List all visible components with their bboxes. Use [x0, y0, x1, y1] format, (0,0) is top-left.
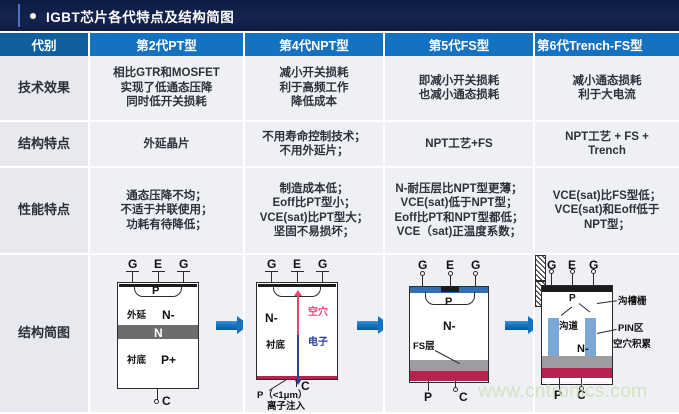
- trench-gate-left: [535, 255, 546, 281]
- cell-line: 相比GTR和MOSFET: [113, 66, 220, 80]
- comparison-table: 代别 第2代PT型 第4代NPT型 第5代FS型 第6代Trench-FS型 技…: [0, 33, 679, 414]
- pin-region-left: [548, 318, 559, 356]
- cell-structure-gen2: 外延晶片: [90, 122, 245, 168]
- row-label-structure-feature: 结构特点: [0, 122, 90, 168]
- cell-line: 即减小开关损耗: [419, 74, 500, 88]
- flow-arrow: [216, 321, 238, 330]
- region-label-n-minus: N-: [577, 343, 589, 357]
- cell-line: 不用外延片；: [262, 144, 366, 158]
- fs-layer: [542, 356, 612, 368]
- cell-line: 通态压降不均；: [121, 189, 213, 203]
- cell-line: NPT工艺 + FS +: [565, 130, 649, 144]
- carrier-label-hole: 空穴: [308, 307, 328, 320]
- cell-line: 降低成本: [280, 95, 349, 109]
- hole-current-arrow: [297, 295, 299, 335]
- annotation-channel-line1: 沟道: [559, 321, 578, 333]
- lead-line: [265, 271, 278, 272]
- terminal-gate-right: G: [318, 257, 327, 272]
- column-header-gen6-trench-fs: 第6代Trench-FS型: [535, 33, 679, 56]
- collector-node: [453, 387, 458, 392]
- region-label-p-plus: P+: [161, 353, 176, 368]
- gate-node-right: [473, 271, 478, 276]
- lead-line: [132, 271, 133, 282]
- row-label-structure-diagram: 结构简图: [0, 255, 90, 414]
- terminal-collector: C: [459, 390, 468, 405]
- column-header-gen2-pt: 第2代PT型: [90, 33, 245, 56]
- electron-current-arrow: [297, 335, 299, 380]
- annotation-pin-region: PIN区: [618, 323, 643, 335]
- cell-performance-gen6: VCE(sat)比FS型低； VCE(sat)和Eoff低于 NPT型；: [535, 168, 679, 255]
- gate-node-right: [591, 269, 596, 274]
- cell-line: VCE(sat)比FS型低；: [553, 189, 662, 203]
- cell-line: 利于高频工作: [280, 81, 349, 95]
- region-label-n-minus: N-: [265, 311, 278, 326]
- region-label-n-minus: N-: [443, 319, 456, 334]
- cell-line: 利于大电流: [573, 88, 642, 102]
- row-label-performance-feature: 性能特点: [0, 168, 90, 255]
- terminal-emitter: E: [293, 257, 301, 272]
- table-header-row: 代别 第2代PT型 第4代NPT型 第5代FS型 第6代Trench-FS型: [0, 33, 679, 56]
- cell-line: NPT工艺+FS: [425, 137, 492, 151]
- cell-line: N-耐压层比NPT型更薄；: [394, 182, 523, 196]
- lead-line: [322, 271, 323, 282]
- annotation-hole-accumulation: 空穴积累: [613, 339, 651, 351]
- diagram-fs-structure: G E G P N- FS层: [385, 255, 535, 414]
- lead-line: [316, 271, 329, 272]
- region-label-p: P: [445, 296, 452, 310]
- annotation-fs-layer: FS层: [413, 341, 435, 353]
- terminal-gate-right: G: [179, 257, 188, 272]
- lead-line: [291, 271, 304, 272]
- slide-title-bar: IGBT芯片各代特点及结构简图: [0, 0, 679, 31]
- region-label-n-minus: N-: [162, 308, 175, 323]
- lead-line: [152, 271, 165, 272]
- gate-node-left: [420, 271, 425, 276]
- lead-line: [158, 271, 159, 282]
- cell-line: 制造成本低；: [260, 182, 369, 196]
- lead-line: [183, 271, 184, 282]
- cell-tech-effect-gen4: 减小开关损耗 利于高频工作 降低成本: [245, 56, 385, 122]
- diagram-trench-fs-structure: G E G P: [535, 255, 679, 414]
- region-label-substrate: 衬底: [127, 355, 146, 367]
- collector-node: [154, 399, 159, 404]
- terminal-gate-left: G: [267, 257, 276, 272]
- column-header-generation: 代别: [0, 33, 90, 56]
- cell-line: 外延晶片: [144, 137, 190, 151]
- table-row-structure-diagram: 结构简图 G E G: [0, 255, 679, 414]
- terminal-gate-left: G: [128, 257, 137, 272]
- cell-structure-gen4: 不用寿命控制技术； 不用外延片；: [245, 122, 385, 168]
- lead-line: [126, 271, 139, 272]
- cell-tech-effect-gen6: 减小通态损耗 利于大电流: [535, 56, 679, 122]
- terminal-collector: C: [577, 388, 586, 403]
- cell-line: 同时低开关损耗: [113, 95, 220, 109]
- emitter-node: [570, 269, 575, 274]
- diagram-pt-structure: G E G P 外延 N-: [90, 255, 245, 414]
- terminal-collector: C: [162, 394, 171, 409]
- emitter-node: [448, 271, 453, 276]
- cell-line: 减小通态损耗: [573, 74, 642, 88]
- cell-line: 实现了低通态压降: [113, 81, 220, 95]
- region-label-p: P: [152, 285, 159, 299]
- cell-structure-gen6: NPT工艺 + FS + Trench: [535, 122, 679, 168]
- table-row-structure-feature: 结构特点 外延晶片 不用寿命控制技术； 不用外延片； NPT工艺+FS NP: [0, 122, 679, 168]
- p-collector-layer: [410, 371, 488, 381]
- cell-line: Eoff比PT型小；: [260, 196, 369, 210]
- diagram-npt-structure: G E G N- 衬底: [245, 255, 385, 414]
- fs-layer: [410, 360, 488, 371]
- annotation-ion-implantation: 离子注入: [267, 401, 305, 413]
- lead-line: [297, 271, 298, 282]
- lead-line: [177, 271, 190, 272]
- annotation-trench-gate: 沟槽栅: [618, 296, 647, 308]
- row-label-tech-effect: 技术效果: [0, 56, 90, 122]
- lead-line: [296, 379, 297, 387]
- cell-line: Eoff比PT和NPT型都低；: [394, 211, 523, 225]
- flow-arrow: [357, 321, 379, 330]
- slide-root: IGBT芯片各代特点及结构简图 代别 第2代PT型 第4代NPT型 第5代FS型…: [0, 0, 679, 414]
- cell-tech-effect-gen5: 即减小开关损耗 也减小通态损耗: [385, 56, 535, 122]
- column-header-gen4-npt: 第4代NPT型: [245, 33, 385, 56]
- region-label-n: N: [154, 326, 163, 341]
- cell-line: VCE（sat)正温度系数；: [394, 225, 523, 239]
- bullet-dot-icon: [30, 13, 36, 19]
- cell-structure-gen5: NPT工艺+FS: [385, 122, 535, 168]
- emitter-metal: [542, 286, 612, 292]
- cell-line: VCE(sat)比PT型大；: [260, 211, 369, 225]
- lead-line: [271, 271, 272, 282]
- table-row-tech-effect: 技术效果 相比GTR和MOSFET 实现了低通态压降 同时低开关损耗 减小开关损…: [0, 56, 679, 122]
- cell-line: NPT型；: [553, 218, 662, 232]
- cell-performance-gen5: N-耐压层比NPT型更薄； VCE(sat)低于NPT型； Eoff比PT和NP…: [385, 168, 535, 255]
- terminal-p-collector: P: [424, 390, 432, 405]
- cell-line: VCE(sat)和Eoff低于: [553, 203, 662, 217]
- cell-line: 功耗有待降低；: [121, 218, 213, 232]
- gate-node-left: [549, 269, 554, 274]
- terminal-emitter: E: [154, 257, 162, 272]
- cell-line: 减小开关损耗: [280, 66, 349, 80]
- cell-line: 不适于并联使用；: [121, 203, 213, 217]
- cell-performance-gen4: 制造成本低； Eoff比PT型小； VCE(sat)比PT型大； 坚固不易损坏；: [245, 168, 385, 255]
- cell-line: 也减小通态损耗: [419, 88, 500, 102]
- cell-line: 不用寿命控制技术；: [262, 130, 366, 144]
- cell-tech-effect-gen2: 相比GTR和MOSFET 实现了低通态压降 同时低开关损耗: [90, 56, 245, 122]
- carrier-label-electron: 电子: [308, 337, 328, 350]
- cell-performance-gen2: 通态压降不均； 不适于并联使用； 功耗有待降低；: [90, 168, 245, 255]
- cell-line: 坚固不易损坏；: [260, 225, 369, 239]
- region-label-substrate: 衬底: [266, 340, 285, 352]
- region-label-epi: 外延: [127, 310, 146, 322]
- cell-line: Trench: [565, 144, 649, 158]
- flow-arrow: [505, 321, 529, 330]
- column-header-gen5-fs: 第5代FS型: [385, 33, 535, 56]
- page-title: IGBT芯片各代特点及结构简图: [46, 6, 234, 26]
- terminal-p-collector: P: [554, 388, 562, 403]
- cell-line: VCE(sat)低于NPT型；: [394, 196, 523, 210]
- p-collector-layer: [542, 368, 612, 378]
- region-label-p: P: [569, 293, 576, 306]
- table-row-performance-feature: 性能特点 通态压降不均； 不适于并联使用； 功耗有待降低； 制造成本低； Eof…: [0, 168, 679, 255]
